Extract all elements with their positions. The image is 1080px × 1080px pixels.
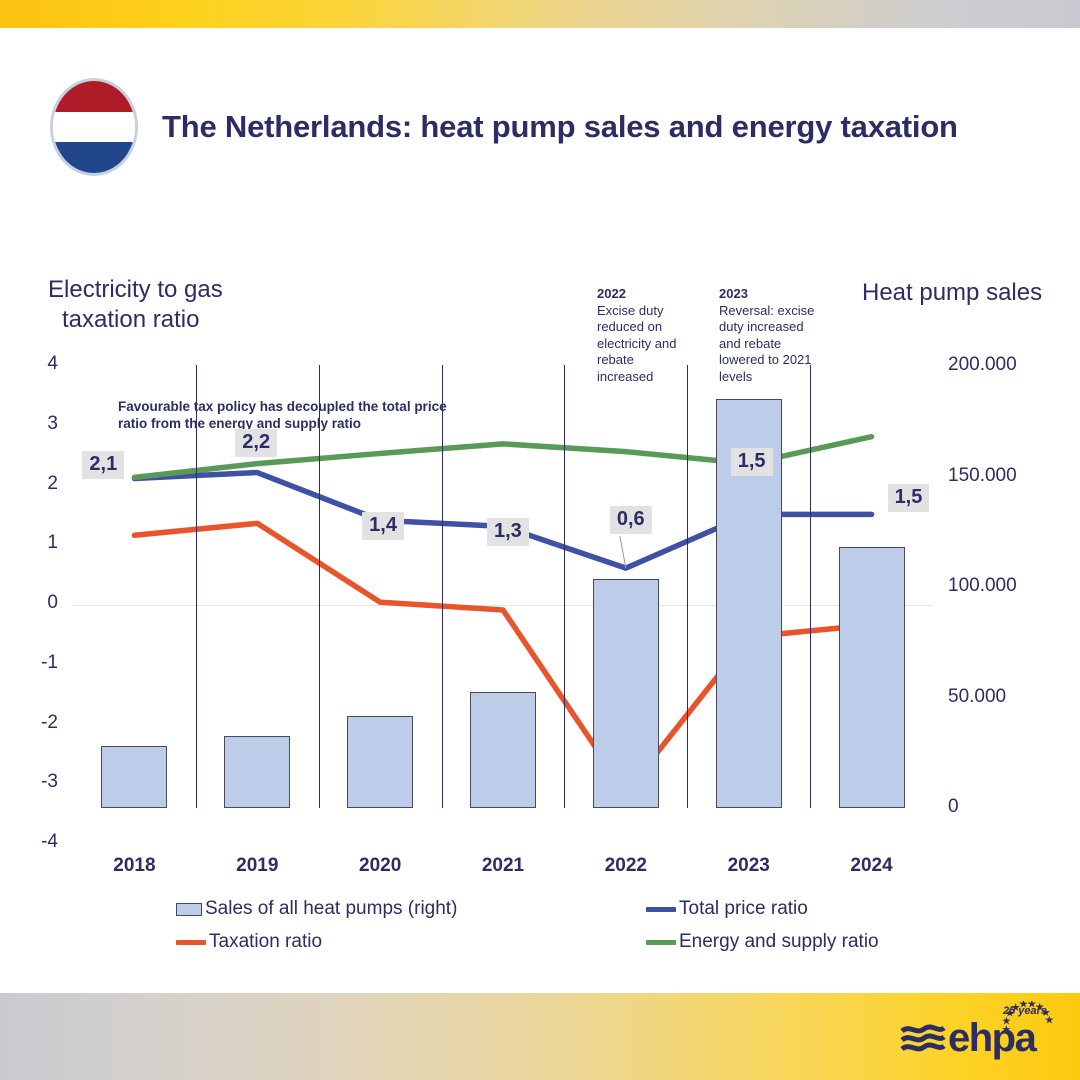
bar-2019[interactable] [224,736,290,808]
legend-swatch-icon [176,903,202,916]
data-label-2021: 1,3 [487,518,529,546]
left-tick-3: 3 [18,413,58,435]
x-label-2021: 2021 [458,855,548,877]
category-separator [196,365,197,808]
callout-2022-year: 2022 [597,286,693,303]
bar-2024[interactable] [839,547,905,808]
bar-2022[interactable] [593,579,659,808]
left-axis-title-line2: taxation ratio [48,305,223,335]
left-tick-2: 2 [18,473,58,495]
legend-swatch-icon [646,907,676,912]
callout-2023-year: 2023 [719,286,815,303]
right-axis-title: Heat pump sales [862,278,1042,308]
left-tick-neg3: -3 [18,771,58,793]
category-separator [442,365,443,808]
right-tick-150000: 150.000 [948,465,1058,487]
legend-item-sales-of-all-heat-pumps-right-[interactable]: Sales of all heat pumps (right) [176,898,646,920]
ehpa-logo: ehpa 25 years ★★★★★★★★★ [900,1018,1035,1058]
category-separator [319,365,320,808]
category-separator [564,365,565,808]
data-label-2023: 1,5 [731,448,773,476]
category-separator [810,365,811,808]
legend-label: Taxation ratio [209,931,322,953]
data-label-2019: 2,2 [235,429,277,457]
data-label-leader [620,536,626,568]
left-axis-title-line1: Electricity to gas [48,275,223,305]
left-tick-1: 1 [18,532,58,554]
data-label-2020: 1,4 [362,512,404,540]
legend-label: Sales of all heat pumps (right) [205,898,457,920]
left-tick-0: 0 [18,592,58,614]
eu-stars-icon: ★★★★★★★★★ [1002,1001,1062,1061]
legend-swatch-icon [176,940,206,945]
data-label-2024: 1,5 [888,484,930,512]
right-tick-50000: 50.000 [948,686,1058,708]
legend-item-energy-and-supply-ratio[interactable]: Energy and supply ratio [646,931,906,953]
bar-2021[interactable] [470,692,536,808]
right-tick-100000: 100.000 [948,575,1058,597]
ehpa-wave-icon [900,1021,946,1055]
x-label-2019: 2019 [212,855,302,877]
legend-label: Energy and supply ratio [679,931,879,953]
legend-label: Total price ratio [679,898,808,920]
left-axis-title: Electricity to gas taxation ratio [48,275,223,335]
bar-2018[interactable] [101,746,167,808]
x-label-2022: 2022 [581,855,671,877]
x-label-2023: 2023 [704,855,794,877]
legend-swatch-icon [646,940,676,945]
legend-item-total-price-ratio[interactable]: Total price ratio [646,898,906,920]
plot-area [73,365,933,843]
x-label-2018: 2018 [89,855,179,877]
svg-text:★: ★ [1044,1015,1054,1027]
category-separator [687,365,688,808]
left-tick-neg2: -2 [18,712,58,734]
right-tick-0: 0 [948,796,1058,818]
chart-legend: Sales of all heat pumps (right)Total pri… [176,898,906,953]
x-label-2020: 2020 [335,855,425,877]
data-label-2018: 2,1 [82,451,124,479]
left-tick-neg1: -1 [18,652,58,674]
x-label-2024: 2024 [827,855,917,877]
left-tick-4: 4 [18,353,58,375]
right-tick-200000: 200.000 [948,354,1058,376]
legend-item-taxation-ratio[interactable]: Taxation ratio [176,931,646,953]
bar-2020[interactable] [347,716,413,808]
data-label-2022: 0,6 [610,506,652,534]
left-tick-neg4: -4 [18,831,58,853]
